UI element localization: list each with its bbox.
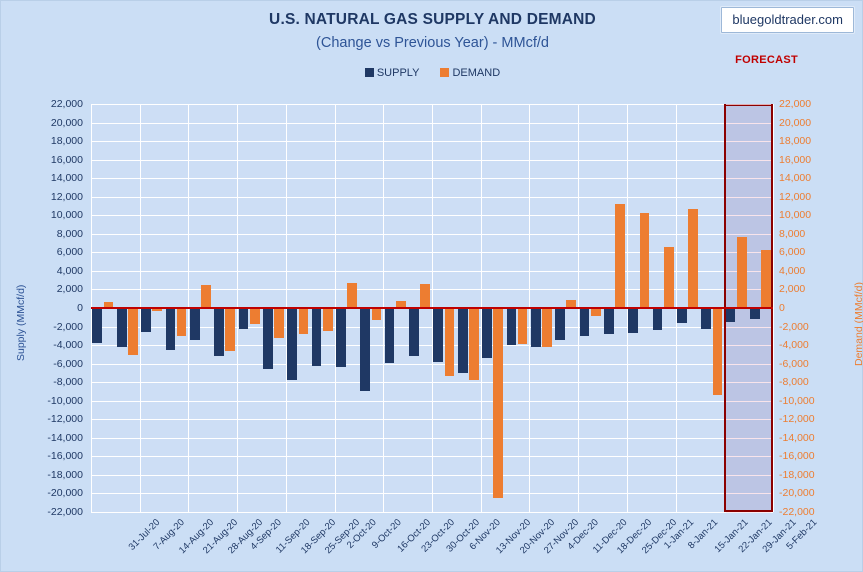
y-axis-right-tick-label: 22,000: [779, 98, 849, 110]
y-axis-left-tick-label: 4,000: [13, 265, 83, 277]
y-axis-right-tick-label: 6,000: [779, 246, 849, 258]
chart-subtitle: (Change vs Previous Year) - MMcf/d: [1, 35, 863, 51]
bar-supply[interactable]: [385, 308, 395, 363]
chart-container: U.S. NATURAL GAS SUPPLY AND DEMAND (Chan…: [0, 0, 863, 572]
y-axis-right-tick-label: -2,000: [779, 321, 849, 333]
forecast-label: FORECAST: [735, 54, 798, 66]
y-axis-right-tick-label: 0: [779, 302, 849, 314]
y-axis-right-tick-label: 4,000: [779, 265, 849, 277]
bar-demand[interactable]: [323, 308, 333, 331]
watermark-bluegoldtrader[interactable]: bluegoldtrader.com: [721, 7, 854, 33]
y-axis-left-tick-label: 12,000: [13, 191, 83, 203]
legend-label-supply: SUPPLY: [377, 67, 420, 79]
gridline-vertical: [773, 104, 774, 512]
bar-supply[interactable]: [580, 308, 590, 336]
y-axis-right-tick-label: 12,000: [779, 191, 849, 203]
bar-supply[interactable]: [507, 308, 517, 345]
bar-demand[interactable]: [761, 250, 771, 308]
y-axis-left-tick-label: 8,000: [13, 228, 83, 240]
bar-supply[interactable]: [482, 308, 492, 358]
bar-demand[interactable]: [372, 308, 382, 320]
bar-supply[interactable]: [701, 308, 711, 329]
y-axis-left-tick-label: 20,000: [13, 117, 83, 129]
y-axis-right-tick-label: -8,000: [779, 376, 849, 388]
y-axis-right-tick-label: 10,000: [779, 209, 849, 221]
y-axis-left-tick-label: -10,000: [13, 395, 83, 407]
bar-supply[interactable]: [531, 308, 541, 347]
bar-demand[interactable]: [201, 285, 211, 308]
bar-supply[interactable]: [141, 308, 151, 332]
y-axis-right-tick-label: -20,000: [779, 487, 849, 499]
y-axis-right-tick-label: 14,000: [779, 172, 849, 184]
bar-demand[interactable]: [347, 283, 357, 308]
y-axis-right-tick-label: -4,000: [779, 339, 849, 351]
bar-supply[interactable]: [214, 308, 224, 356]
bar-supply[interactable]: [409, 308, 419, 356]
bar-supply[interactable]: [458, 308, 468, 373]
y-axis-right-tick-label: -14,000: [779, 432, 849, 444]
legend-label-demand: DEMAND: [452, 67, 500, 79]
bar-demand[interactable]: [493, 308, 503, 498]
chart-legend: SUPPLY DEMAND: [1, 67, 863, 79]
bar-supply[interactable]: [92, 308, 102, 343]
legend-item-demand[interactable]: DEMAND: [440, 67, 500, 79]
bar-supply[interactable]: [433, 308, 443, 362]
bar-supply[interactable]: [117, 308, 127, 347]
bar-supply[interactable]: [604, 308, 614, 334]
y-axis-right-tick-label: -16,000: [779, 450, 849, 462]
legend-swatch-demand-icon: [440, 68, 449, 77]
y-axis-left-tick-label: -4,000: [13, 339, 83, 351]
y-axis-left-tick-label: 6,000: [13, 246, 83, 258]
bar-demand[interactable]: [591, 308, 601, 316]
bar-demand[interactable]: [128, 308, 138, 355]
bar-demand[interactable]: [177, 308, 187, 336]
bar-supply[interactable]: [239, 308, 249, 329]
y-axis-left-tick-label: 10,000: [13, 209, 83, 221]
y-axis-right-tick-label: 20,000: [779, 117, 849, 129]
y-axis-left-tick-label: -12,000: [13, 413, 83, 425]
y-axis-right-tick-label: -18,000: [779, 469, 849, 481]
bar-supply[interactable]: [166, 308, 176, 350]
y-axis-right-tick-label: -22,000: [779, 506, 849, 518]
bar-demand[interactable]: [469, 308, 479, 380]
bar-supply[interactable]: [287, 308, 297, 380]
y-axis-right-title: Demand (MMcf/d): [853, 282, 863, 366]
y-axis-right-tick-label: 16,000: [779, 154, 849, 166]
bar-demand[interactable]: [640, 213, 650, 308]
bar-demand[interactable]: [445, 308, 455, 376]
y-axis-left-tick-label: -2,000: [13, 321, 83, 333]
zero-line: [91, 307, 773, 309]
bar-demand[interactable]: [420, 284, 430, 308]
y-axis-right-tick-label: -10,000: [779, 395, 849, 407]
bar-supply[interactable]: [653, 308, 663, 330]
y-axis-right-tick-label: 18,000: [779, 135, 849, 147]
bar-demand[interactable]: [664, 247, 674, 308]
y-axis-left-tick-label: 2,000: [13, 283, 83, 295]
bar-demand[interactable]: [225, 308, 235, 351]
y-axis-right-tick-label: -12,000: [779, 413, 849, 425]
bar-supply[interactable]: [750, 308, 760, 319]
bar-supply[interactable]: [312, 308, 322, 366]
bar-supply[interactable]: [360, 308, 370, 391]
y-axis-left-tick-label: -6,000: [13, 358, 83, 370]
bar-supply[interactable]: [336, 308, 346, 367]
bar-supply[interactable]: [555, 308, 565, 340]
legend-swatch-supply-icon: [365, 68, 374, 77]
y-axis-right-tick-label: 2,000: [779, 283, 849, 295]
legend-item-supply[interactable]: SUPPLY: [365, 67, 420, 79]
y-axis-left-tick-label: 22,000: [13, 98, 83, 110]
y-axis-right-tick-label: 8,000: [779, 228, 849, 240]
y-axis-left-tick-label: 16,000: [13, 154, 83, 166]
y-axis-right-tick-label: -6,000: [779, 358, 849, 370]
bar-demand[interactable]: [737, 237, 747, 308]
bar-demand[interactable]: [299, 308, 309, 334]
bar-demand[interactable]: [688, 209, 698, 308]
y-axis-left-tick-label: 18,000: [13, 135, 83, 147]
y-axis-left-tick-label: 14,000: [13, 172, 83, 184]
bar-demand[interactable]: [274, 308, 284, 338]
bar-demand[interactable]: [713, 308, 723, 395]
y-axis-left-tick-label: -20,000: [13, 487, 83, 499]
y-axis-left-tick-label: -18,000: [13, 469, 83, 481]
bar-supply[interactable]: [628, 308, 638, 333]
bar-supply[interactable]: [726, 308, 736, 322]
plot-area: [91, 104, 773, 512]
bar-demand[interactable]: [542, 308, 552, 347]
bar-supply[interactable]: [263, 308, 273, 369]
y-axis-left-tick-label: 0: [13, 302, 83, 314]
y-axis-left-tick-label: -14,000: [13, 432, 83, 444]
y-axis-left-tick-label: -22,000: [13, 506, 83, 518]
y-axis-left-tick-label: -16,000: [13, 450, 83, 462]
bar-supply[interactable]: [677, 308, 687, 323]
y-axis-left-tick-label: -8,000: [13, 376, 83, 388]
bar-supply[interactable]: [190, 308, 200, 340]
gridline-horizontal: [91, 512, 773, 513]
bar-demand[interactable]: [615, 204, 625, 308]
bar-demand[interactable]: [518, 308, 528, 344]
bar-demand[interactable]: [250, 308, 260, 324]
